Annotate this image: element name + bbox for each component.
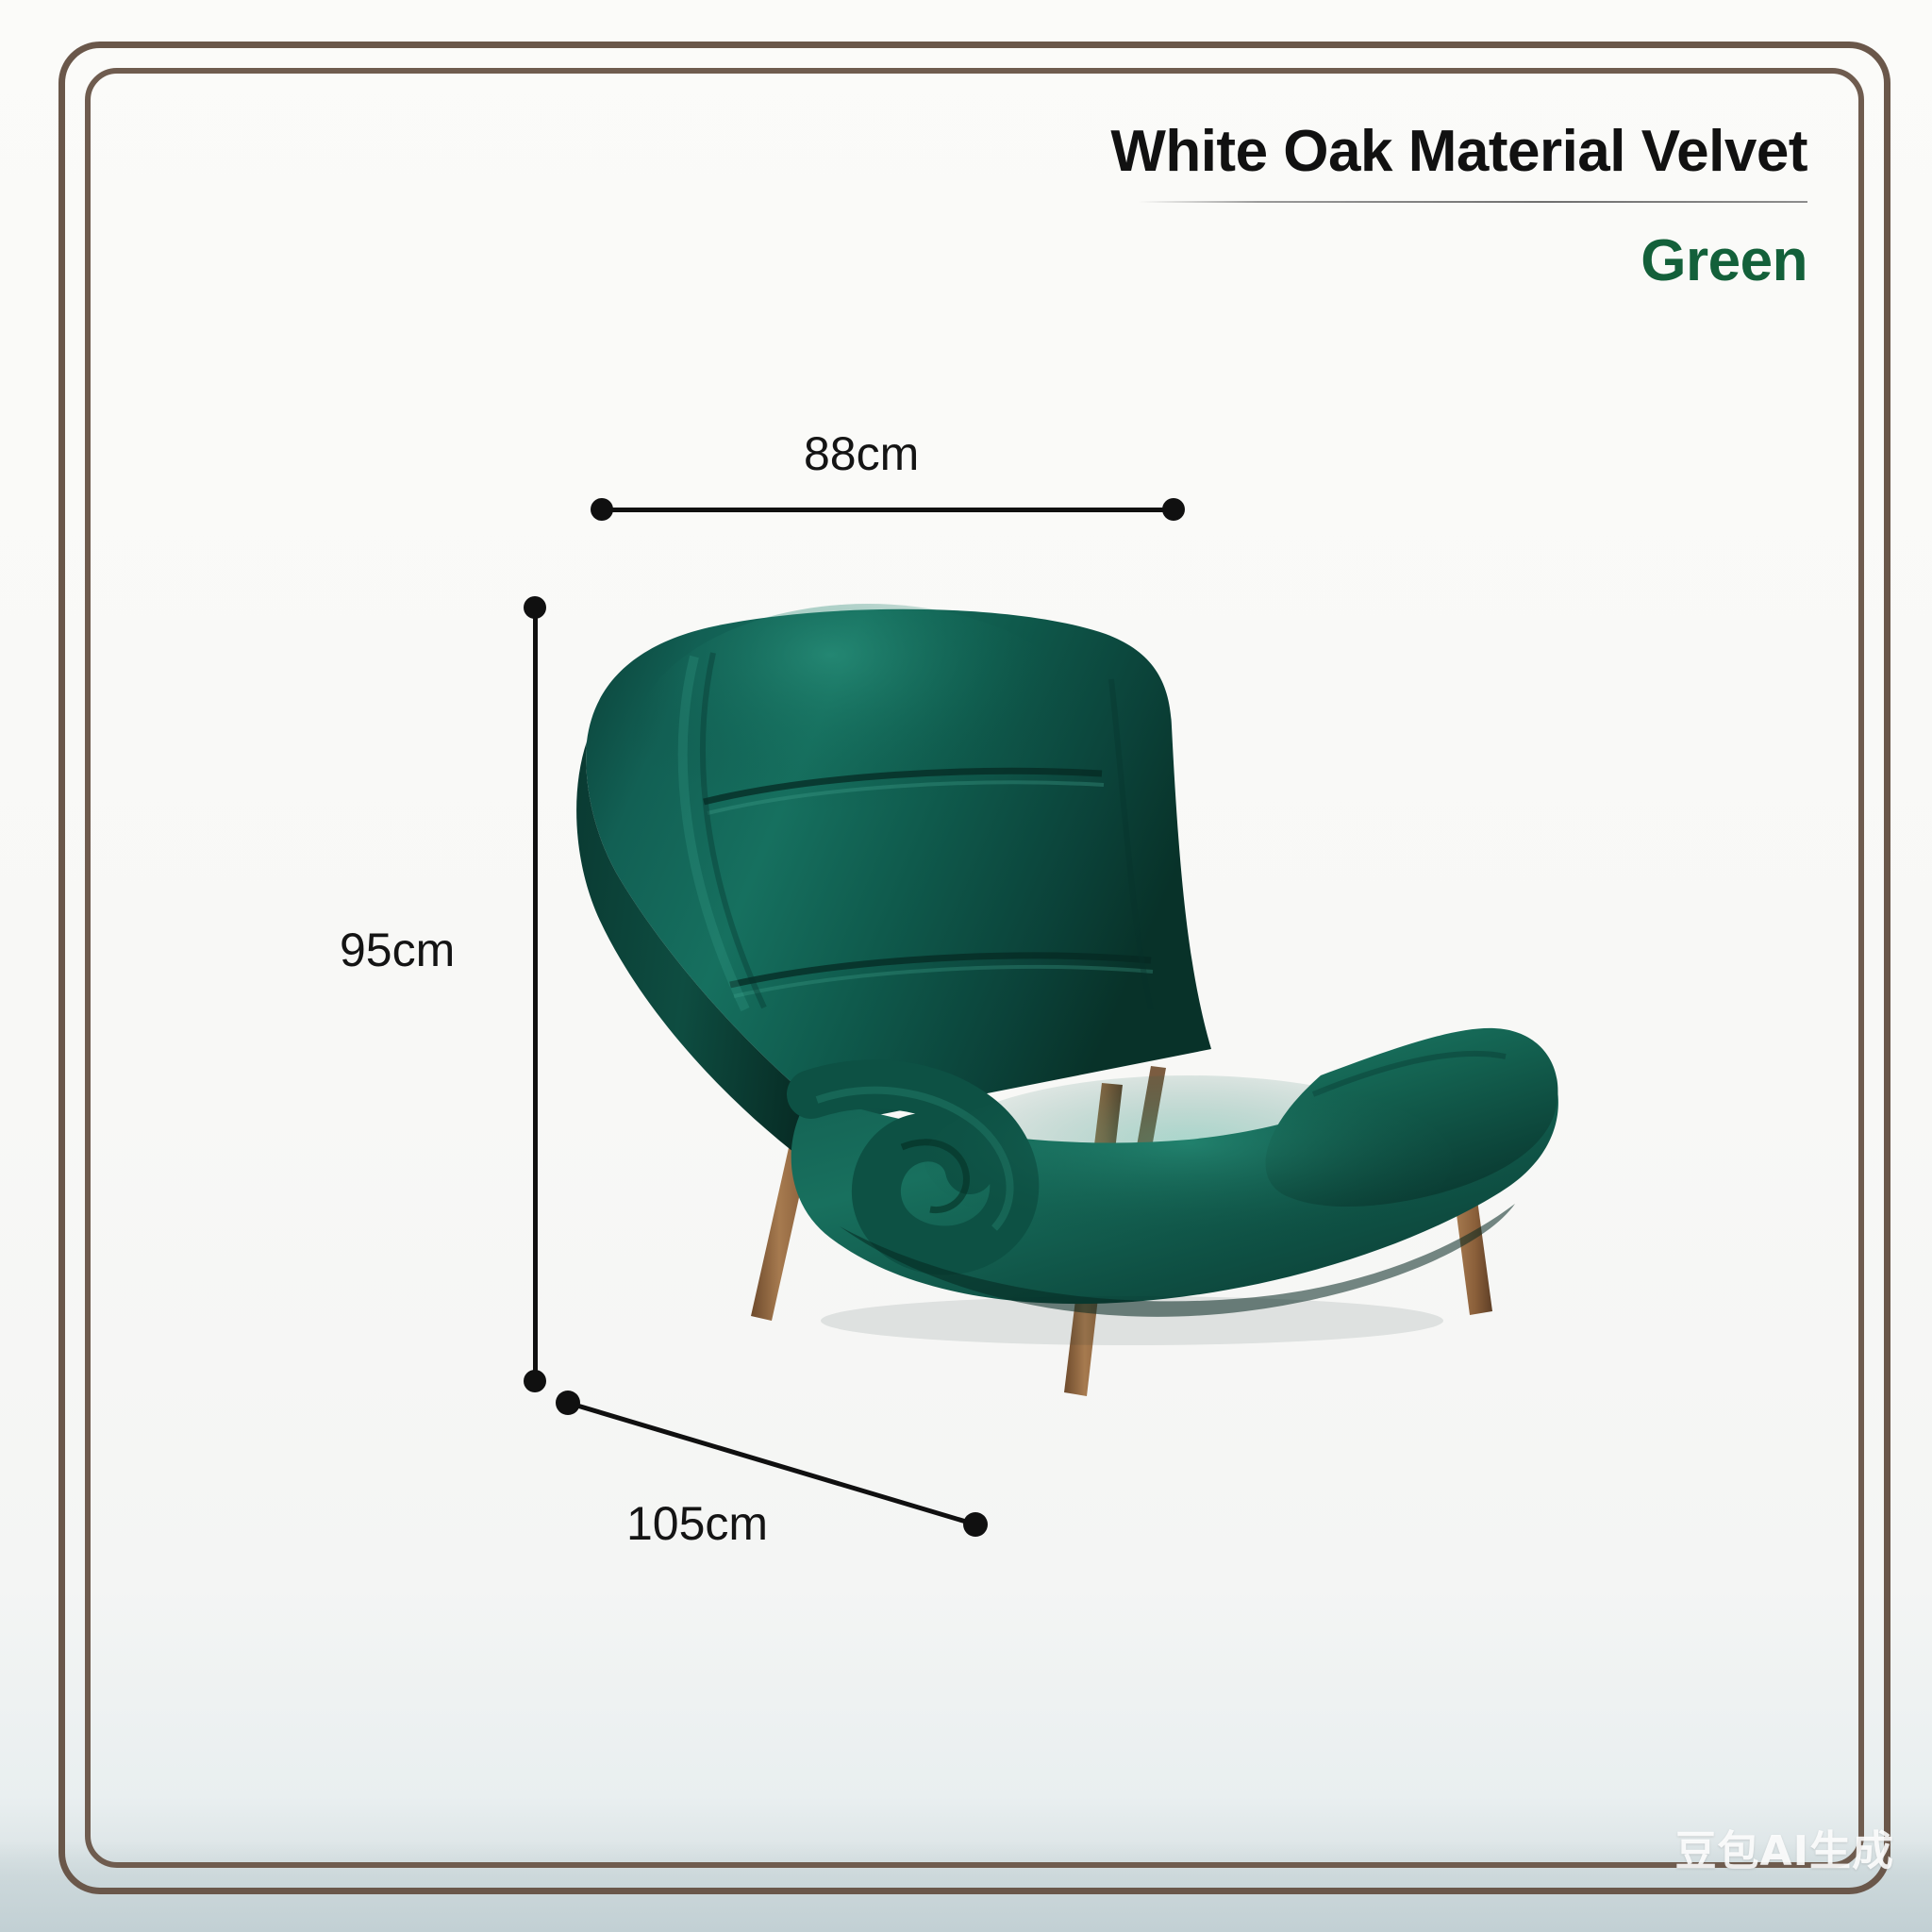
header-block: White Oak Material Velvet Green	[770, 121, 1807, 294]
watermark-text: 豆包AI生成	[1675, 1817, 1894, 1877]
floor-strip	[0, 1841, 1932, 1932]
dimension-label-width: 88cm	[804, 426, 919, 481]
title-divider	[1138, 201, 1807, 203]
product-infographic-canvas: 88cm 95cm 105cm White Oak Material Velve…	[0, 0, 1932, 1932]
dimension-line-width	[602, 508, 1175, 512]
dimension-dot-height-top	[524, 596, 546, 619]
dimension-line-height	[533, 613, 538, 1385]
dimension-dot-height-bottom	[524, 1370, 546, 1392]
product-title: White Oak Material Velvet	[770, 121, 1807, 182]
dimension-label-depth: 105cm	[626, 1496, 768, 1551]
dimension-dot-depth-end	[963, 1512, 988, 1537]
dimension-dot-width-left	[591, 498, 613, 521]
dimension-label-height: 95cm	[340, 923, 455, 977]
chair-product-image	[528, 566, 1575, 1434]
dimension-dot-width-right	[1162, 498, 1185, 521]
product-color-name: Green	[770, 227, 1807, 294]
